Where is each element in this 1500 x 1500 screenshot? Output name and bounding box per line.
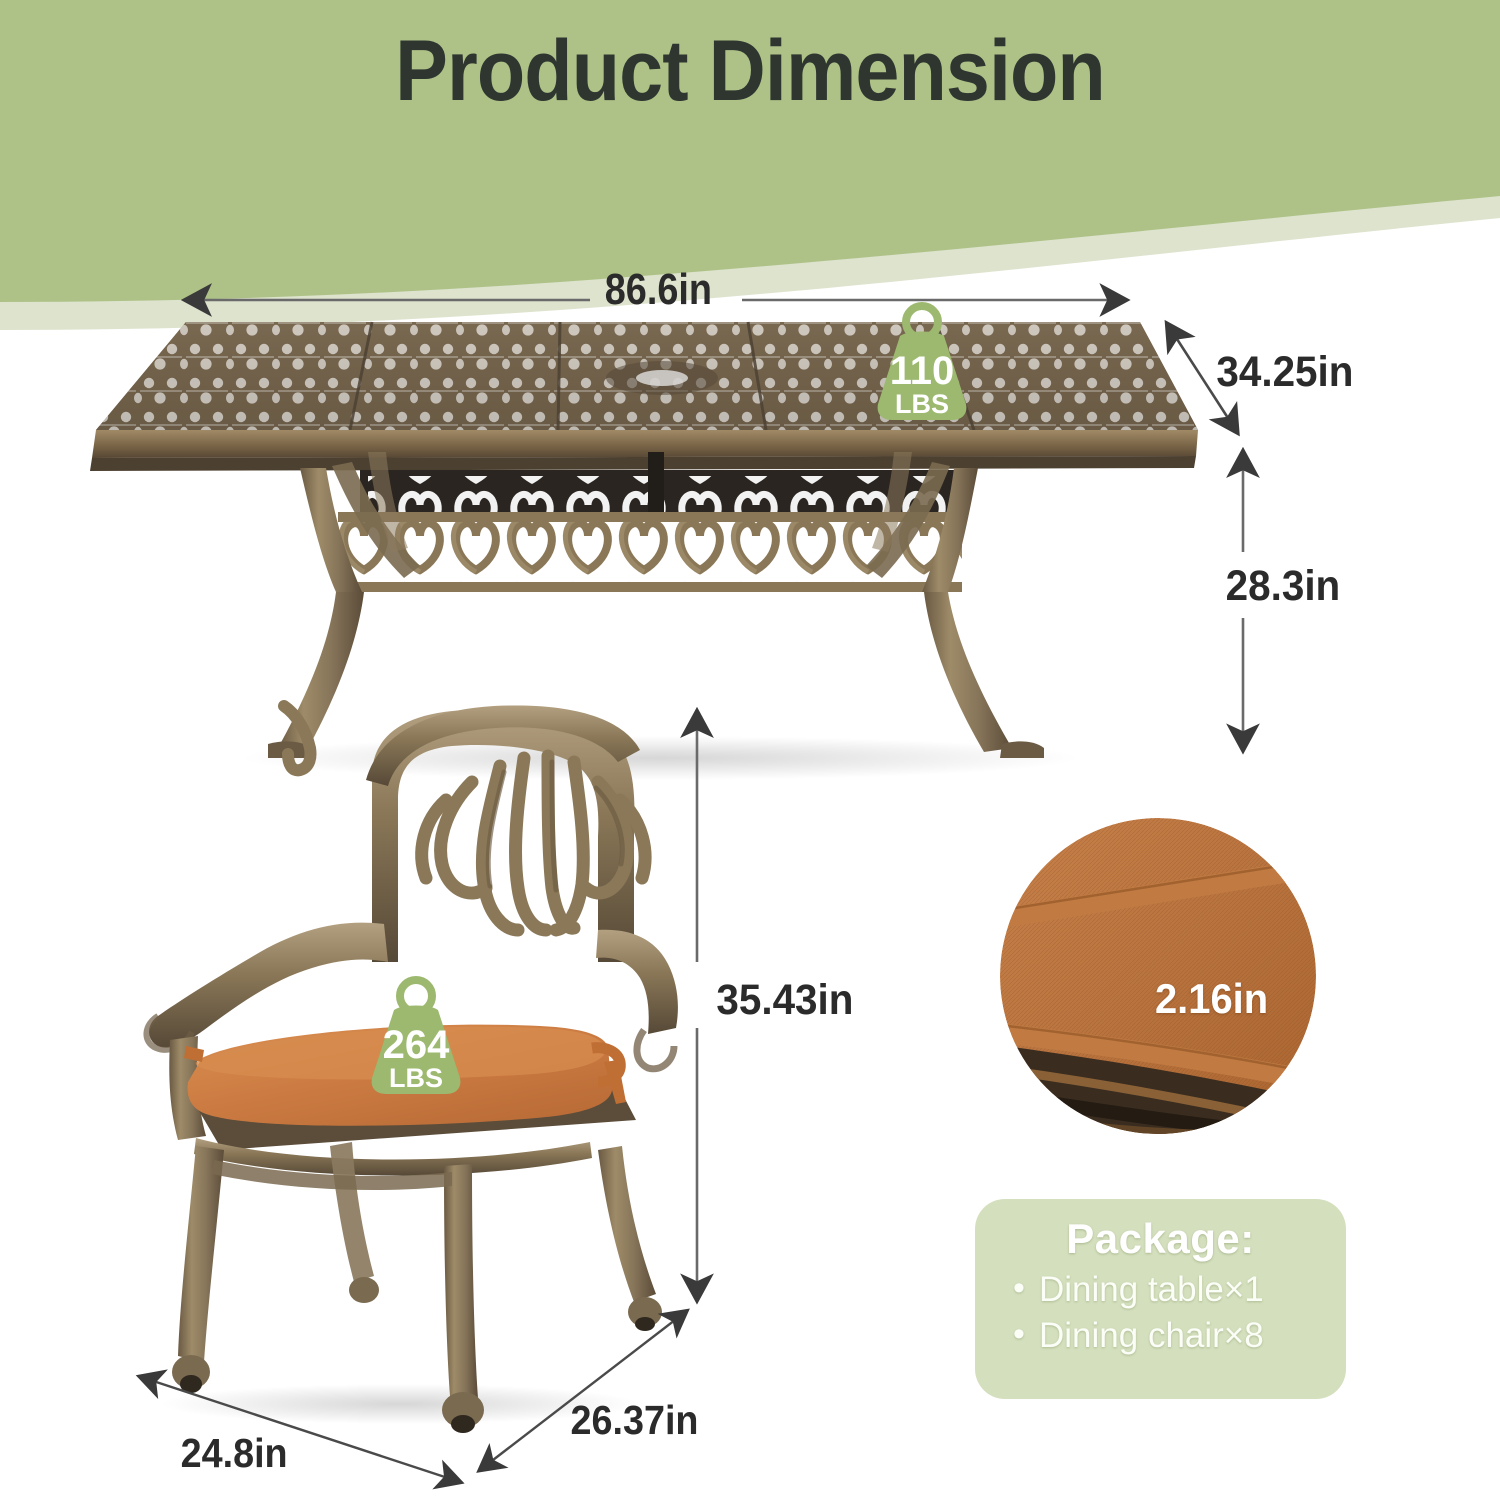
dimension-label-table-width: 86.6in <box>605 265 712 315</box>
weight-badge-value: 264 <box>383 1023 450 1067</box>
dimension-label-cushion-thickness: 2.16in <box>1155 975 1268 1023</box>
dimension-label-chair-height: 35.43in <box>716 976 853 1025</box>
package-item-list: Dining table×1 Dining chair×8 <box>975 1267 1346 1359</box>
package-info-box: Package: Dining table×1 Dining chair×8 <box>975 1199 1346 1399</box>
package-title: Package: <box>975 1215 1346 1263</box>
dimension-label-table-height: 28.3in <box>1226 562 1341 611</box>
weight-badge-chair: 264 LBS <box>352 974 480 1103</box>
arrow-chair-depth <box>480 1310 688 1470</box>
package-item: Dining table×1 <box>1011 1267 1346 1313</box>
package-item: Dining chair×8 <box>1011 1313 1346 1359</box>
dimension-label-chair-depth: 26.37in <box>571 1397 699 1444</box>
weight-badge-unit: LBS <box>895 389 949 419</box>
weight-badge-unit: LBS <box>389 1063 443 1093</box>
weight-badge-value: 110 <box>890 349 955 393</box>
weight-badge-table: 110 LBS <box>858 300 986 429</box>
dimension-label-table-depth: 34.25in <box>1216 348 1353 397</box>
infographic-canvas: Product Dimension <box>0 0 1500 1500</box>
dimension-label-chair-width: 24.8in <box>181 1430 288 1477</box>
